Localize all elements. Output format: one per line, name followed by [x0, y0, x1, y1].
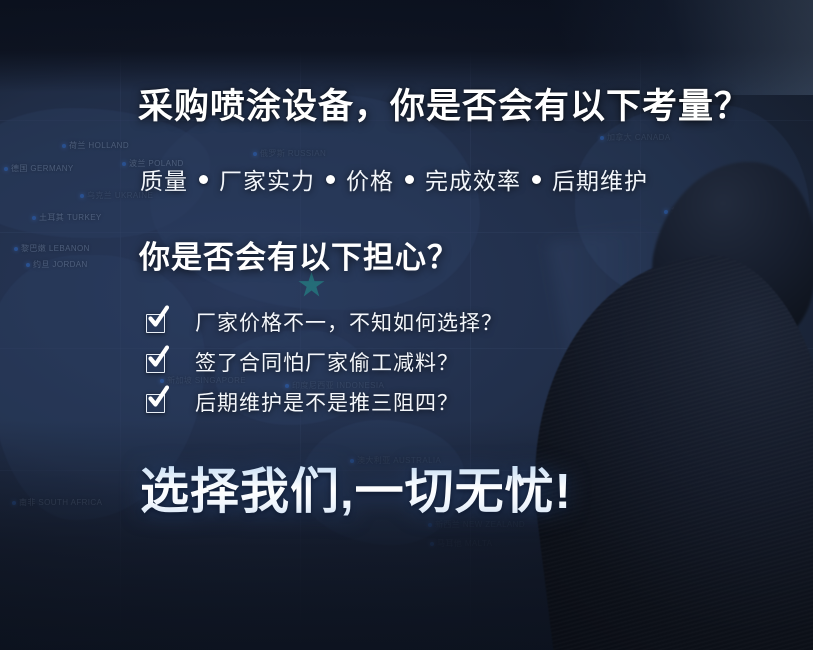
feature-label: 厂家实力	[219, 162, 315, 196]
section-subtitle: 你是否会有以下担心？	[139, 232, 459, 277]
checkbox-checked-icon	[146, 312, 167, 333]
checkmark-glyph	[148, 345, 169, 369]
bullet-dot-icon	[326, 175, 335, 184]
bullet-dot-icon	[532, 175, 541, 184]
concern-list: 厂家价格不一，不知如何选择？签了合同怕厂家偷工减料？后期维护是不是推三阻四？	[146, 302, 503, 422]
feature-label: 价格	[346, 162, 394, 196]
list-item: 签了合同怕厂家偷工减料？	[146, 342, 503, 382]
banner-content: 采购喷涂设备，你是否会有以下考量？ 质量厂家实力价格完成效率后期维护 你是否会有…	[0, 0, 813, 650]
bullet-dot-icon	[199, 175, 208, 184]
list-item-label: 签了合同怕厂家偷工减料？	[195, 347, 459, 377]
slogan-text: 选择我们,一切无忧!	[140, 452, 572, 523]
list-item: 厂家价格不一，不知如何选择？	[146, 302, 503, 342]
checkbox-checked-icon	[146, 392, 167, 413]
checkmark-glyph	[148, 305, 169, 329]
list-item-label: 后期维护是不是推三阻四？	[195, 387, 459, 417]
feature-label: 质量	[140, 162, 188, 196]
promo-banner: 荷兰 HOLLAND波兰 POLAND德国 GERMANY乌克兰 UKRAINE…	[0, 0, 813, 650]
bullet-dot-icon	[405, 175, 414, 184]
feature-label: 完成效率	[425, 162, 521, 196]
feature-label: 后期维护	[552, 162, 648, 196]
page-title: 采购喷涂设备，你是否会有以下考量？	[138, 86, 750, 127]
list-item: 后期维护是不是推三阻四？	[146, 382, 503, 422]
feature-list: 质量厂家实力价格完成效率后期维护	[140, 162, 648, 196]
checkbox-checked-icon	[146, 352, 167, 373]
checkmark-glyph	[148, 385, 169, 409]
list-item-label: 厂家价格不一，不知如何选择？	[195, 307, 503, 337]
